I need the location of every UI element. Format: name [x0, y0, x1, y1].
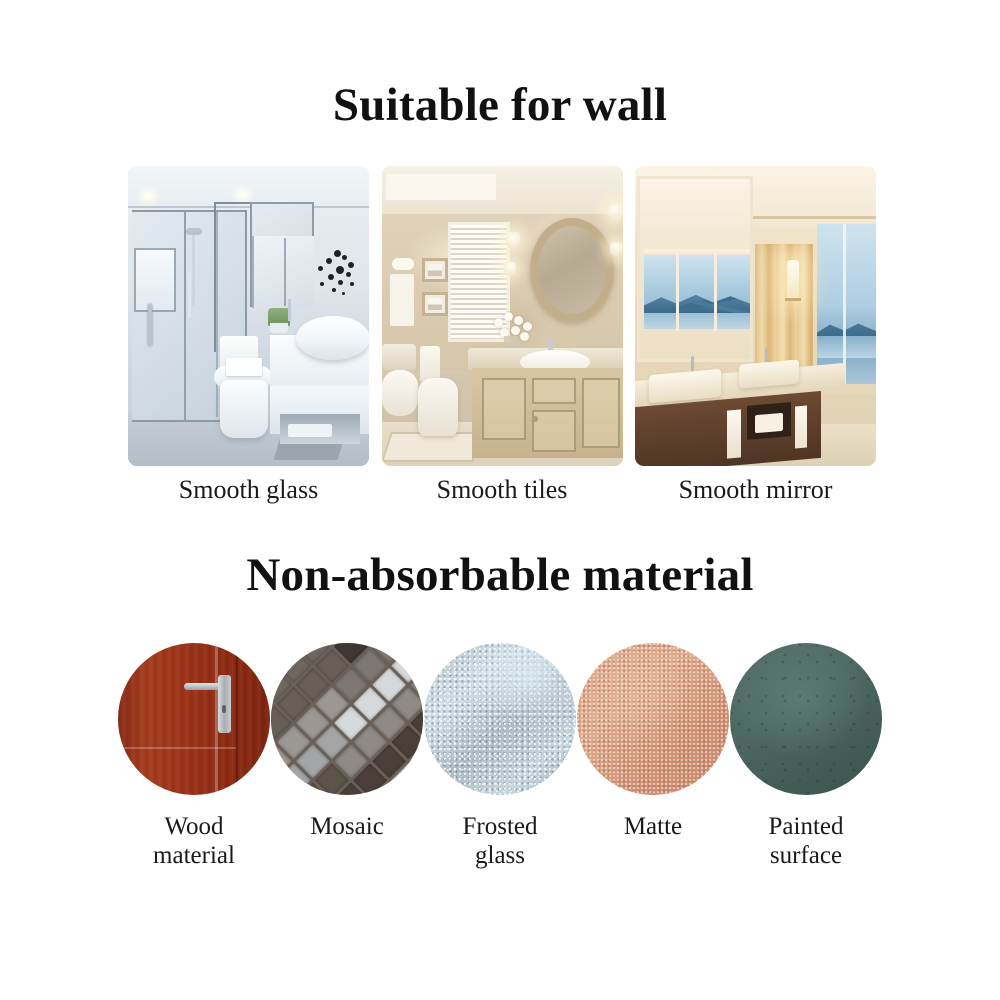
reflected-water [644, 313, 752, 329]
door-lock-plate [218, 675, 231, 733]
oval-mirror [530, 218, 614, 322]
glass-sheen [424, 643, 576, 795]
caption-line: Painted [730, 812, 882, 841]
shower-head [186, 228, 202, 235]
wall-partition [216, 202, 252, 204]
caption-line: Mosaic [271, 812, 423, 841]
wall-photo-row [128, 166, 876, 466]
reflected-window-mullion [714, 251, 717, 331]
shelf-towel [288, 424, 332, 437]
wall-decal [316, 250, 360, 300]
framed-picture [422, 258, 448, 282]
caption-smooth-mirror: Smooth mirror [635, 474, 876, 506]
basin-faucet [288, 299, 291, 321]
plant-pot [270, 323, 288, 333]
wall-partition [214, 202, 216, 352]
photo-smooth-tiles [382, 166, 623, 466]
caption-line: surface [730, 841, 882, 870]
gold-curtain [755, 244, 813, 376]
bidet [382, 370, 418, 416]
toilet-cistern [420, 346, 440, 382]
ceiling-spotlight [238, 192, 247, 197]
hanging-towel [390, 274, 414, 326]
vessel-basin [296, 316, 369, 360]
caption-line: Matte [577, 812, 729, 841]
caption-mosaic: Mosaic [271, 812, 423, 870]
photo-smooth-mirror [635, 166, 876, 466]
smooth-tiles-bathroom-image [382, 166, 623, 466]
shower-riser [192, 235, 195, 307]
floor-rug [382, 432, 483, 462]
smooth-glass-bathroom-image [128, 166, 369, 466]
cabinet-panel [582, 378, 620, 448]
shower-door-handle [148, 304, 152, 346]
swatch-frosted-glass [424, 643, 576, 795]
caption-line: Wood [118, 812, 270, 841]
reflected-window-mullion [676, 251, 679, 331]
mosaic-tile-grid [271, 643, 423, 795]
caption-painted-surface: Painted surface [730, 812, 882, 870]
caption-matte: Matte [577, 812, 729, 870]
basin-faucet [691, 356, 694, 372]
cabinet-panel [532, 410, 576, 452]
shower-window [134, 248, 176, 312]
bathtub [382, 344, 416, 370]
glass-panel-divider [184, 212, 186, 422]
door-edge-shadow [236, 643, 238, 795]
glass-panel-divider [216, 212, 218, 417]
folded-towels [755, 413, 783, 433]
folded-towel [226, 358, 262, 376]
caption-line: glass [424, 841, 576, 870]
material-swatch-row [118, 643, 882, 799]
ceiling-spotlight [144, 194, 153, 199]
material-caption-row: Wood material Mosaic Frosted glass Matte… [118, 812, 882, 870]
framed-picture [422, 292, 448, 316]
door-groove [118, 747, 236, 749]
cabinet-panel [532, 378, 576, 404]
wall-sconce [608, 204, 622, 221]
caption-smooth-tiles: Smooth tiles [382, 474, 623, 506]
ceiling-inset [386, 174, 496, 200]
sconce-arm [785, 298, 801, 301]
smooth-mirror-bathroom-image [635, 166, 876, 466]
caption-smooth-glass: Smooth glass [128, 474, 369, 506]
shower-hose [188, 270, 191, 318]
water [817, 336, 876, 358]
reflected-window-frame [644, 249, 752, 253]
material-section-heading: Non-absorbable material [0, 548, 1000, 602]
towel-shelf [392, 258, 414, 270]
reflected-ceiling [640, 179, 750, 239]
wall-sconce [787, 260, 799, 300]
large-wall-mirror [637, 176, 753, 362]
hanging-towel [727, 409, 741, 458]
infographic-page: Suitable for wall [0, 0, 1000, 1000]
wall-sconce [610, 242, 622, 256]
cabinet-knob [532, 416, 538, 422]
cabinet-panel [482, 378, 526, 440]
caption-frosted-glass: Frosted glass [424, 812, 576, 870]
wall-caption-row: Smooth glass Smooth tiles Smooth mirror [128, 474, 876, 506]
toilet-bowl [220, 380, 268, 438]
mirror-cabinet-seam [284, 238, 286, 306]
swatch-matte [577, 643, 729, 795]
caption-line: material [118, 841, 270, 870]
keyhole-icon [222, 705, 226, 713]
caption-wood-material: Wood material [118, 812, 270, 870]
wall-section-heading: Suitable for wall [0, 78, 1000, 132]
swatch-mosaic [271, 643, 423, 795]
caption-line: Frosted [424, 812, 576, 841]
toilet [418, 378, 458, 436]
hanging-towel [795, 405, 807, 448]
wall-sconce [506, 232, 520, 249]
mirror-cabinet-panel [252, 236, 314, 308]
basin-faucet [765, 348, 768, 362]
wall-sconce [504, 262, 516, 276]
swatch-wood-material [118, 643, 270, 795]
photo-smooth-glass [128, 166, 369, 466]
ceiling-line [128, 206, 369, 208]
swatch-painted-surface [730, 643, 882, 795]
